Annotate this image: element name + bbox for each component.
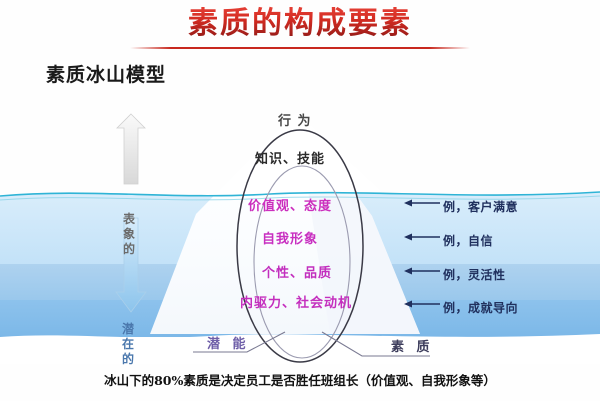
- latent-arrow-char-2: 的: [119, 352, 137, 367]
- layer-label-motive: 内驱力、社会动机: [240, 292, 352, 311]
- layer-label-values-attitude: 价值观、态度: [248, 195, 332, 214]
- bracket-label-competency: 素 质: [391, 336, 434, 355]
- annotation-achievement-orientation: 例，成就导向: [443, 299, 518, 316]
- latent-arrow-char-0: 潜: [119, 322, 137, 337]
- layer-label-behavior: 行 为: [278, 110, 312, 129]
- annotation-customer-satisfaction: 例，客户满意: [443, 198, 518, 215]
- bracket-label-potential: 潜 能: [207, 333, 250, 352]
- latent-arrow-label: 潜 在 的: [119, 322, 137, 367]
- layer-label-personality: 个性、品质: [262, 262, 332, 281]
- page-title: 素质的构成要素: [0, 4, 600, 44]
- title-underline: [130, 47, 470, 49]
- surface-arrow-char-0: 表: [120, 212, 138, 227]
- latent-arrow-char-1: 在: [119, 337, 137, 352]
- annotation-flexibility: 例，灵活性: [443, 266, 506, 283]
- layer-label-self-image: 自我形象: [262, 228, 318, 247]
- subtitle: 素质冰山模型: [46, 60, 166, 87]
- seabed-white: [0, 334, 600, 364]
- slide-canvas: 素质的构成要素 素质冰山模型: [0, 0, 600, 401]
- footer-caption: 冰山下的80%素质是决定员工是否胜任班组长（价值观、自我形象等）: [0, 370, 600, 389]
- layer-label-knowledge-skill: 知识、技能: [255, 148, 325, 167]
- surface-arrow-char-1: 象: [120, 227, 138, 242]
- annotation-self-confidence: 例，自信: [443, 232, 493, 249]
- up-arrow-shape: [117, 114, 145, 184]
- surface-arrow-char-2: 的: [120, 242, 138, 257]
- surface-arrow-label: 表 象 的: [120, 212, 138, 257]
